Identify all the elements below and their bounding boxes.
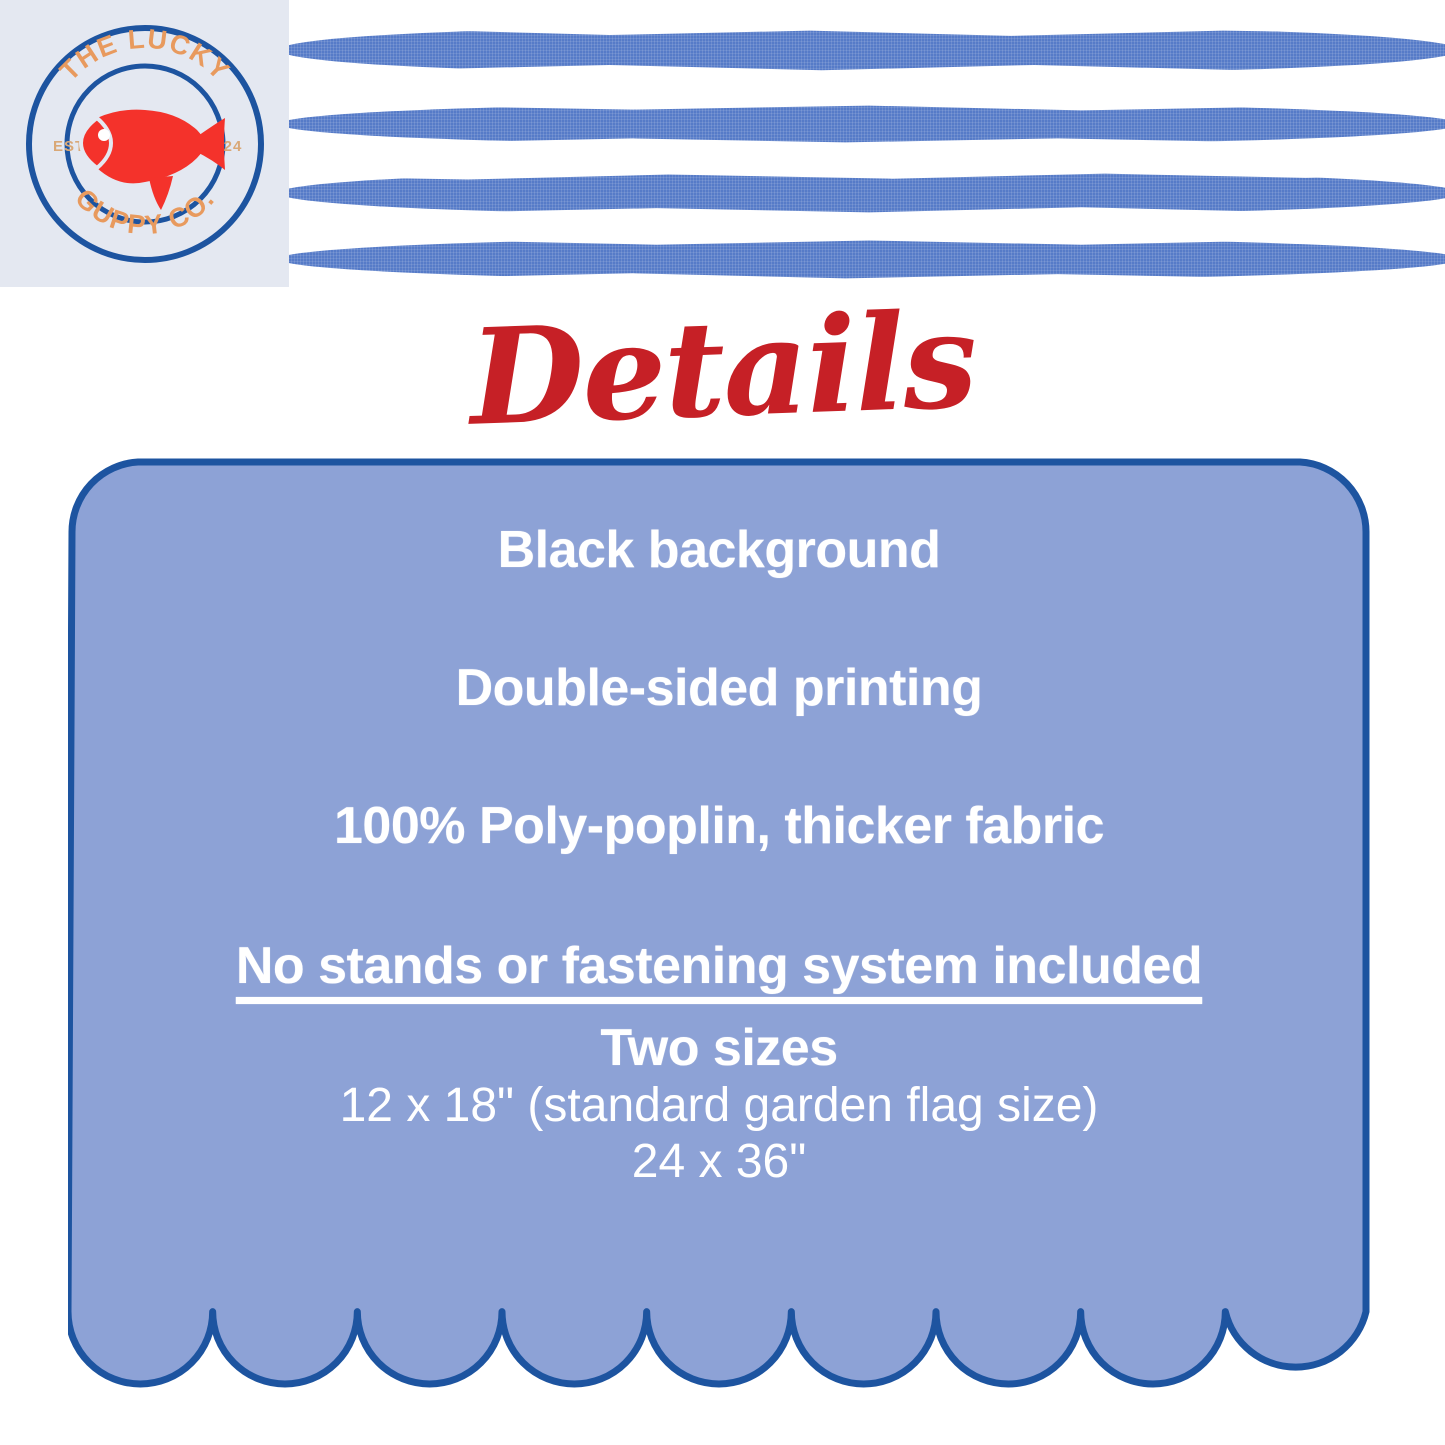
size-option-small: 12 x 18" (standard garden flag size) (340, 1078, 1099, 1134)
brand-logo-box: THE LUCKY GUPPY CO. EST 2024 (0, 0, 289, 287)
brand-logo-badge: THE LUCKY GUPPY CO. EST 2024 (19, 18, 271, 270)
detail-line-double-sided-printing: Double-sided printing (456, 658, 983, 718)
page-title: Details (0, 261, 1445, 479)
detail-line-no-stands: No stands or fastening system included (236, 936, 1202, 996)
details-card: Black background Double-sided printing 1… (68, 458, 1370, 1388)
detail-line-black-background: Black background (498, 520, 941, 580)
size-option-large: 24 x 36" (632, 1134, 807, 1190)
stripe-2 (289, 104, 1445, 144)
brand-arc-top-text: THE LUCKY (53, 23, 235, 86)
stripe-1 (289, 28, 1445, 72)
header-band: THE LUCKY GUPPY CO. EST 2024 (0, 0, 1445, 290)
striped-fabric-banner (289, 0, 1445, 290)
details-card-content: Black background Double-sided printing 1… (68, 458, 1370, 1388)
brand-arc-bottom-text: GUPPY CO. (69, 182, 220, 240)
detail-line-poly-poplin: 100% Poly-poplin, thicker fabric (334, 796, 1104, 856)
detail-line-two-sizes: Two sizes (600, 1018, 837, 1078)
stripe-3 (289, 172, 1445, 214)
